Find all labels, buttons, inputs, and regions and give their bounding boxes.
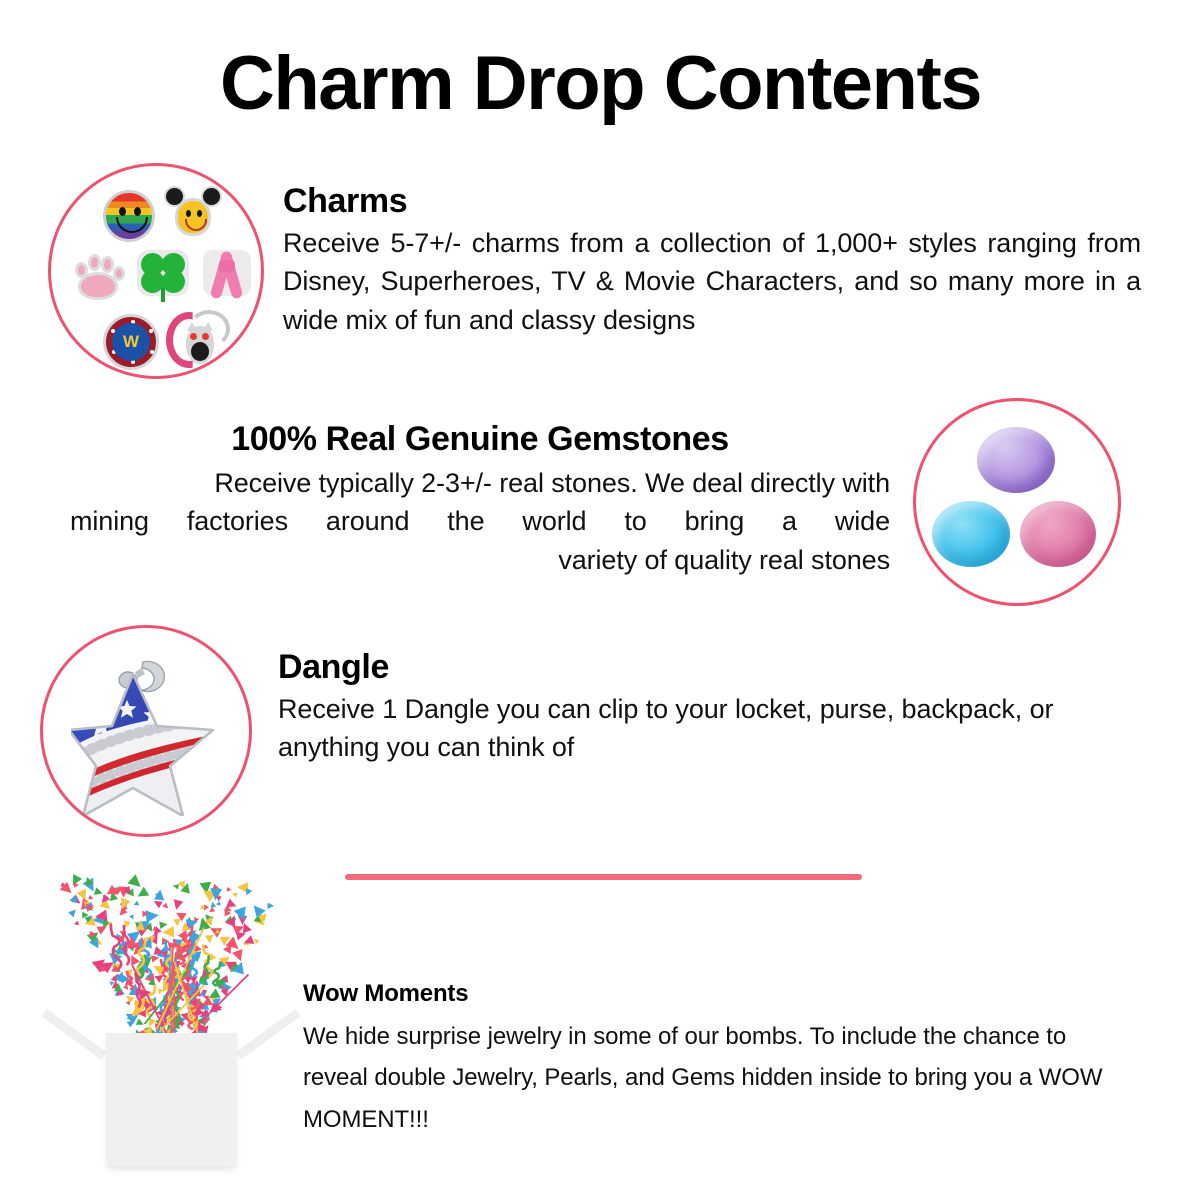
dangle-text-block: Dangle Receive 1 Dangle you can clip to … bbox=[278, 648, 1078, 767]
section-divider bbox=[345, 874, 862, 880]
gemstones-heading: 100% Real Genuine Gemstones bbox=[70, 420, 890, 458]
blue-topaz-gem-icon bbox=[932, 501, 1010, 567]
paw-pad bbox=[78, 272, 118, 300]
dangle-photo bbox=[71, 656, 227, 816]
owl-horn-right bbox=[203, 322, 213, 331]
charms-image-circle: W bbox=[48, 163, 264, 379]
owl-eye-right bbox=[202, 333, 209, 340]
confetti-box-illustration bbox=[46, 872, 296, 1177]
pink-tourmaline-gem-icon bbox=[1020, 501, 1096, 567]
ww-crystal-2 bbox=[149, 329, 153, 333]
owl-belly bbox=[191, 342, 209, 361]
dangle-description: Receive 1 Dangle you can clip to your lo… bbox=[278, 690, 1078, 767]
confetti-icon bbox=[46, 872, 296, 1047]
ww-crystal-3 bbox=[150, 350, 154, 354]
rainbow-smiley-charm-icon bbox=[103, 190, 155, 242]
owl-horn-left bbox=[187, 322, 197, 331]
gift-box-front bbox=[106, 1033, 237, 1166]
paw-toe-3 bbox=[101, 256, 114, 273]
dangle-image-circle bbox=[40, 625, 252, 837]
wonder-woman-charm-icon: W bbox=[103, 314, 159, 370]
lobster-clasp-icon bbox=[119, 661, 164, 691]
gemstones-description-line-1: Receive typically 2-3+/- real stones. We… bbox=[70, 464, 890, 502]
mickey-eye-left bbox=[186, 210, 191, 217]
paw-toe-2 bbox=[88, 254, 101, 271]
rainbow-smiley-mouth bbox=[116, 217, 148, 233]
gemstones-description-line-3: variety of quality real stones bbox=[70, 541, 890, 579]
charms-photo: W bbox=[51, 166, 261, 376]
flag-star-dangle-icon bbox=[71, 656, 227, 816]
purple-amethyst-gem-icon bbox=[977, 427, 1055, 493]
charms-description: Receive 5-7+/- charms from a collection … bbox=[283, 224, 1141, 339]
awareness-ribbon-charm-icon bbox=[201, 248, 253, 306]
star-body bbox=[71, 656, 227, 816]
gemstones-image-circle bbox=[913, 398, 1121, 606]
ww-emblem: W bbox=[117, 335, 145, 349]
rainbow-smiley-eye-left bbox=[119, 207, 126, 216]
owl-eye-left bbox=[190, 333, 197, 340]
owl-body bbox=[186, 326, 214, 364]
charms-heading: Charms bbox=[283, 182, 1141, 220]
gemstones-description: Receive typically 2-3+/- real stones. We… bbox=[70, 464, 890, 579]
gemstones-text-block: 100% Real Genuine Gemstones Receive typi… bbox=[70, 420, 890, 579]
wow-moments-description: We hide surprise jewelry in some of our … bbox=[303, 1016, 1103, 1140]
dangle-heading: Dangle bbox=[278, 648, 1078, 686]
confetti-burst bbox=[46, 872, 296, 1047]
four-leaf-clover-charm-icon bbox=[135, 248, 191, 306]
owl-moon-charm-icon bbox=[166, 310, 224, 372]
paw-print-charm-icon bbox=[69, 252, 127, 304]
mickey-mouse-charm-icon bbox=[164, 186, 222, 240]
mickey-face bbox=[175, 198, 211, 236]
ribbon-knot bbox=[219, 260, 235, 272]
mickey-eye-right bbox=[197, 210, 202, 217]
rainbow-smiley-eye-right bbox=[134, 207, 141, 216]
page-title: Charm Drop Contents bbox=[0, 44, 1201, 124]
mickey-smile bbox=[185, 219, 207, 231]
charms-text-block: Charms Receive 5-7+/- charms from a coll… bbox=[283, 182, 1141, 339]
wow-moments-heading: Wow Moments bbox=[303, 980, 468, 1008]
gemstones-description-line-2: mining factories around the world to bri… bbox=[70, 502, 890, 540]
